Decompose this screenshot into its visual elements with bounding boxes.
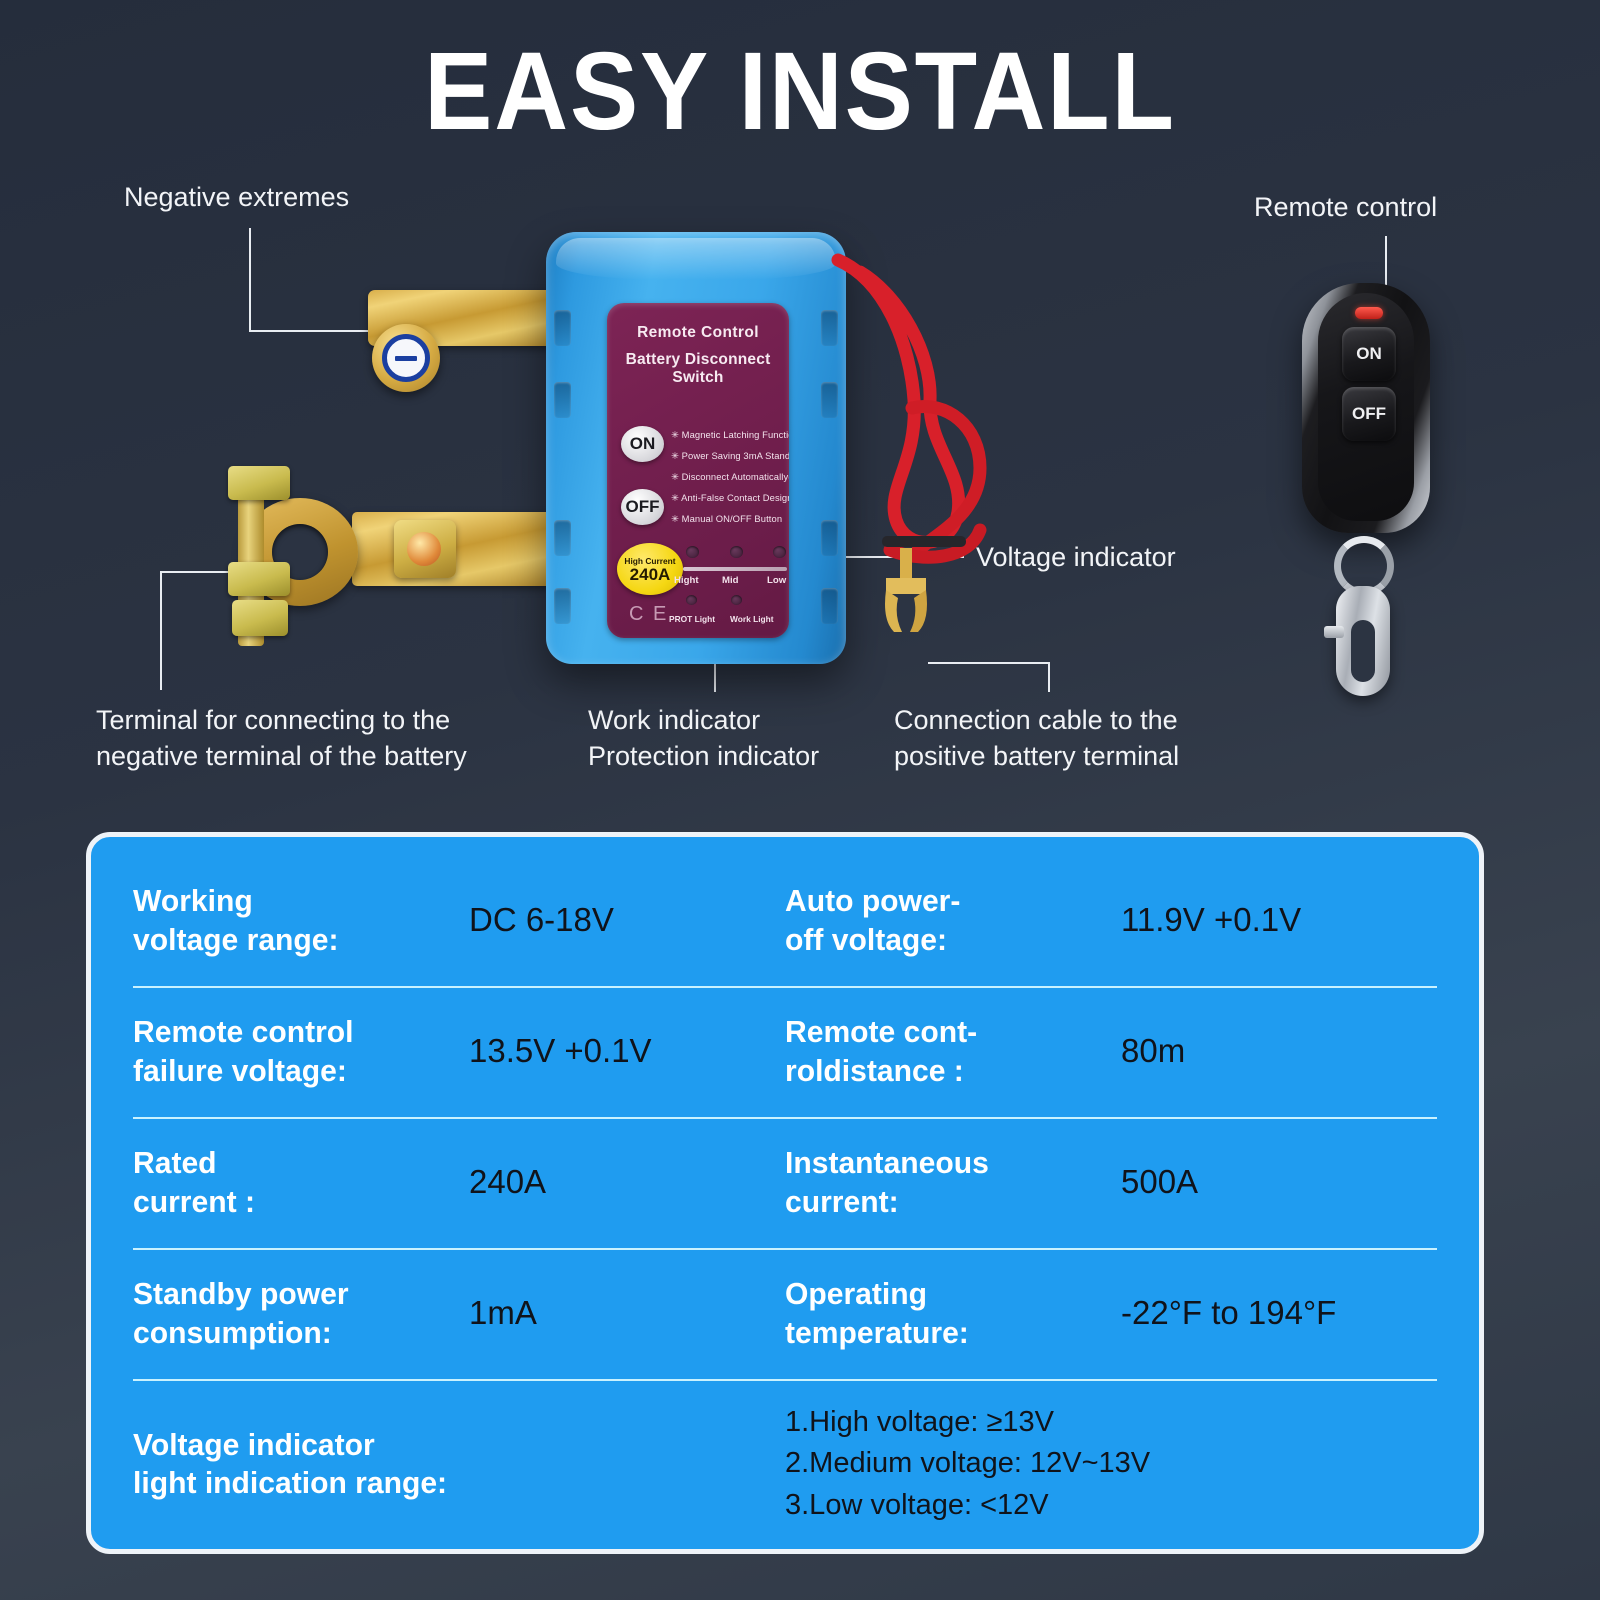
callout-negative-extremes: Negative extremes — [124, 180, 349, 216]
remote-carabiner-clip — [1336, 586, 1390, 696]
feature-item-4: ✳ Anti-False Contact Design — [671, 492, 789, 504]
badge-caption: High Current — [624, 556, 675, 566]
spec-value: 11.9V +0.1V — [1115, 900, 1301, 941]
spec-key: Working voltage range: — [133, 882, 453, 959]
callout-remote-control: Remote control — [1254, 190, 1437, 226]
callout-terminal-negative: Terminal for connecting to the negative … — [96, 703, 467, 775]
led-label-high: Hight — [674, 575, 699, 586]
clamp-nut-mid — [228, 562, 290, 596]
page-title: EASY INSTALL — [56, 34, 1544, 150]
housing-rib-left-1 — [554, 310, 571, 346]
led-work-indicator — [731, 595, 742, 605]
spec-cell: Auto power- off voltage: 11.9V +0.1V — [785, 855, 1437, 986]
spec-cell: Remote cont- roldistance : 80m — [785, 986, 1437, 1117]
spec-key: Standby power consumption: — [133, 1275, 453, 1352]
led-high-indicator — [686, 546, 699, 558]
led-label-mid: Mid — [722, 575, 739, 586]
led-label-work-light: Work Light — [730, 614, 774, 624]
housing-rib-left-2 — [554, 382, 571, 418]
housing-rib-left-4 — [554, 588, 571, 624]
callout-connection-cable: Connection cable to the positive battery… — [894, 703, 1179, 775]
device-off-button[interactable]: OFF — [621, 489, 664, 525]
specification-panel: Working voltage range: DC 6-18V Auto pow… — [86, 832, 1484, 1554]
spec-row: Standby power consumption: 1mA Operating… — [133, 1248, 1437, 1379]
leader-line-terminal-negative-vertical — [160, 572, 162, 690]
fork-terminal-connector — [880, 548, 932, 634]
housing-top-highlight — [556, 238, 836, 280]
clamp-hex-bolt — [394, 520, 456, 578]
clamp-hex-bolt-cap — [407, 532, 441, 566]
voltage-indication-list: 1.High voltage: ≥13V 2.Medium voltage: 1… — [785, 1402, 1150, 1526]
spec-cell: Instantaneous current: 500A — [785, 1117, 1437, 1248]
device-label-line-1: Remote Control — [607, 324, 789, 342]
battery-clamp-bar — [352, 512, 568, 586]
spec-cell: Voltage indicator light indication range… — [133, 1379, 785, 1549]
spec-cell: Operating temperature: -22°F to 194°F — [785, 1248, 1437, 1379]
callout-work-protection-indicator: Work indicator Protection indicator — [588, 703, 819, 775]
device-label-line-2: Battery Disconnect Switch — [607, 351, 789, 387]
spec-cell: Rated current : 240A — [133, 1117, 785, 1248]
spec-key: Remote control failure voltage: — [133, 1013, 453, 1090]
spec-row: Rated current : 240A Instantaneous curre… — [133, 1117, 1437, 1248]
minus-polarity-icon — [382, 334, 430, 382]
led-label-prot-light: PROT Light — [669, 614, 715, 624]
spec-value: DC 6-18V — [463, 900, 614, 941]
remote-on-button[interactable]: ON — [1342, 327, 1396, 381]
spec-key: Operating temperature: — [785, 1275, 1105, 1352]
feature-item-1: ✳ Magnetic Latching Function — [671, 429, 789, 441]
remote-status-led-icon — [1355, 307, 1383, 319]
spec-key: Auto power- off voltage: — [785, 882, 1105, 959]
led-divider-bar — [683, 567, 787, 571]
spec-value: -22°F to 194°F — [1115, 1293, 1336, 1334]
spec-value: 240A — [463, 1162, 546, 1203]
spec-cell: Remote control failure voltage: 13.5V +0… — [133, 986, 785, 1117]
spec-value: 13.5V +0.1V — [463, 1031, 652, 1072]
spec-cell: Working voltage range: DC 6-18V — [133, 855, 785, 986]
feature-item-2: ✳ Power Saving 3mA Standby Current — [671, 450, 789, 462]
remote-control-fob: ON OFF — [1302, 283, 1430, 533]
housing-rib-left-3 — [554, 520, 571, 556]
remote-off-button[interactable]: OFF — [1342, 387, 1396, 441]
ce-mark-icon: C E — [629, 603, 668, 626]
leader-line-remote-control — [1385, 236, 1387, 288]
spec-cell: 1.High voltage: ≥13V 2.Medium voltage: 1… — [785, 1379, 1437, 1549]
spec-row-voltage-indicator: Voltage indicator light indication range… — [133, 1379, 1437, 1549]
high-current-badge: High Current 240A — [617, 543, 683, 595]
feature-item-5: ✳ Manual ON/OFF Button — [671, 513, 782, 525]
feature-item-3: ✳ Disconnect Automatically(<12V/24V) — [671, 471, 789, 483]
spec-row: Remote control failure voltage: 13.5V +0… — [133, 986, 1437, 1117]
negative-terminal-knob — [372, 324, 440, 392]
spec-key: Voltage indicator light indication range… — [133, 1426, 502, 1503]
clamp-nut-bottom — [232, 600, 288, 636]
leader-line-negative-extremes-vertical — [249, 228, 251, 331]
spec-row: Working voltage range: DC 6-18V Auto pow… — [133, 855, 1437, 986]
device-on-button[interactable]: ON — [621, 426, 664, 462]
spec-key: Remote cont- roldistance : — [785, 1013, 1105, 1090]
device-label-plate: Remote Control Battery Disconnect Switch… — [607, 303, 789, 638]
led-low-indicator — [773, 546, 786, 558]
spec-value: 80m — [1115, 1031, 1185, 1072]
led-mid-indicator — [730, 546, 743, 558]
led-prot-indicator — [686, 595, 697, 605]
clamp-nut-top — [228, 466, 290, 500]
infographic-canvas: EASY INSTALL Negative extremes Remote co… — [0, 0, 1600, 1600]
carabiner-thumb-tab — [1324, 626, 1344, 638]
spec-key: Instantaneous current: — [785, 1144, 1105, 1221]
spec-cell: Standby power consumption: 1mA — [133, 1248, 785, 1379]
badge-current-value: 240A — [630, 566, 671, 583]
leader-line-negative-extremes-horizontal — [249, 330, 381, 332]
spec-value: 1mA — [463, 1293, 537, 1334]
spec-key: Rated current : — [133, 1144, 453, 1221]
led-label-low: Low — [767, 575, 786, 586]
spec-value: 500A — [1115, 1162, 1198, 1203]
carabiner-slot — [1351, 620, 1375, 682]
